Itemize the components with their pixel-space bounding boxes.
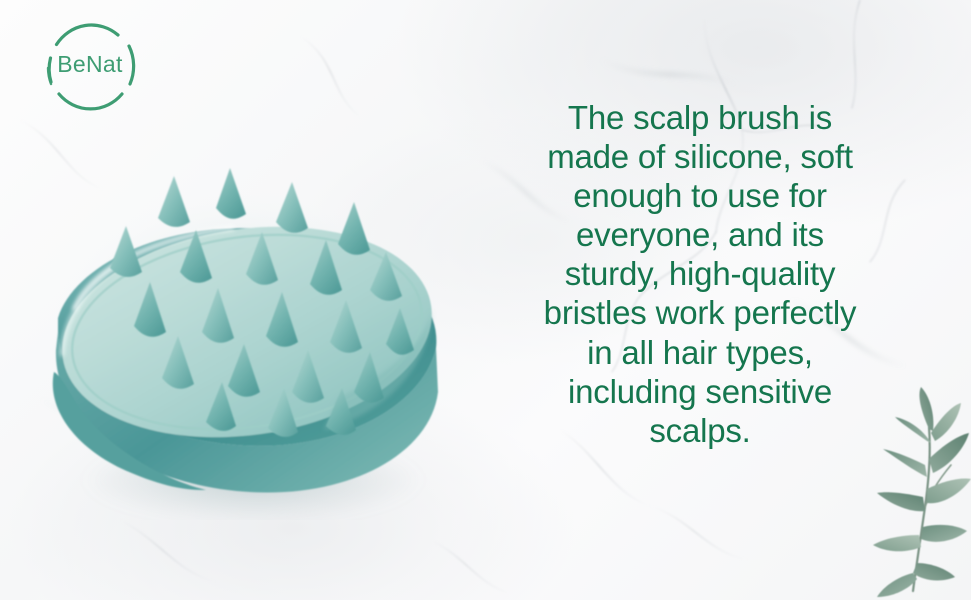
copy-line-6: bristles work perfectly bbox=[505, 293, 895, 332]
copy-line-3: enough to use for bbox=[505, 176, 895, 215]
copy-line-4: everyone, and its bbox=[505, 215, 895, 254]
benat-logo[interactable]: BeNat bbox=[26, 14, 154, 114]
product-image-scalp-brush bbox=[38, 160, 458, 520]
product-banner: BeNat bbox=[0, 0, 971, 600]
copy-line-2: made of silicone, soft bbox=[505, 137, 895, 176]
product-description-text: The scalp brush is made of silicone, sof… bbox=[505, 98, 895, 450]
olive-branch-decoration bbox=[855, 385, 971, 600]
logo-wordmark: BeNat bbox=[26, 14, 154, 114]
copy-line-9: scalps. bbox=[505, 411, 895, 450]
copy-line-1: The scalp brush is bbox=[505, 98, 895, 137]
copy-line-5: sturdy, high-quality bbox=[505, 254, 895, 293]
copy-line-7: in all hair types, bbox=[505, 333, 895, 372]
copy-line-8: including sensitive bbox=[505, 372, 895, 411]
olive-branch-icon bbox=[855, 385, 971, 600]
